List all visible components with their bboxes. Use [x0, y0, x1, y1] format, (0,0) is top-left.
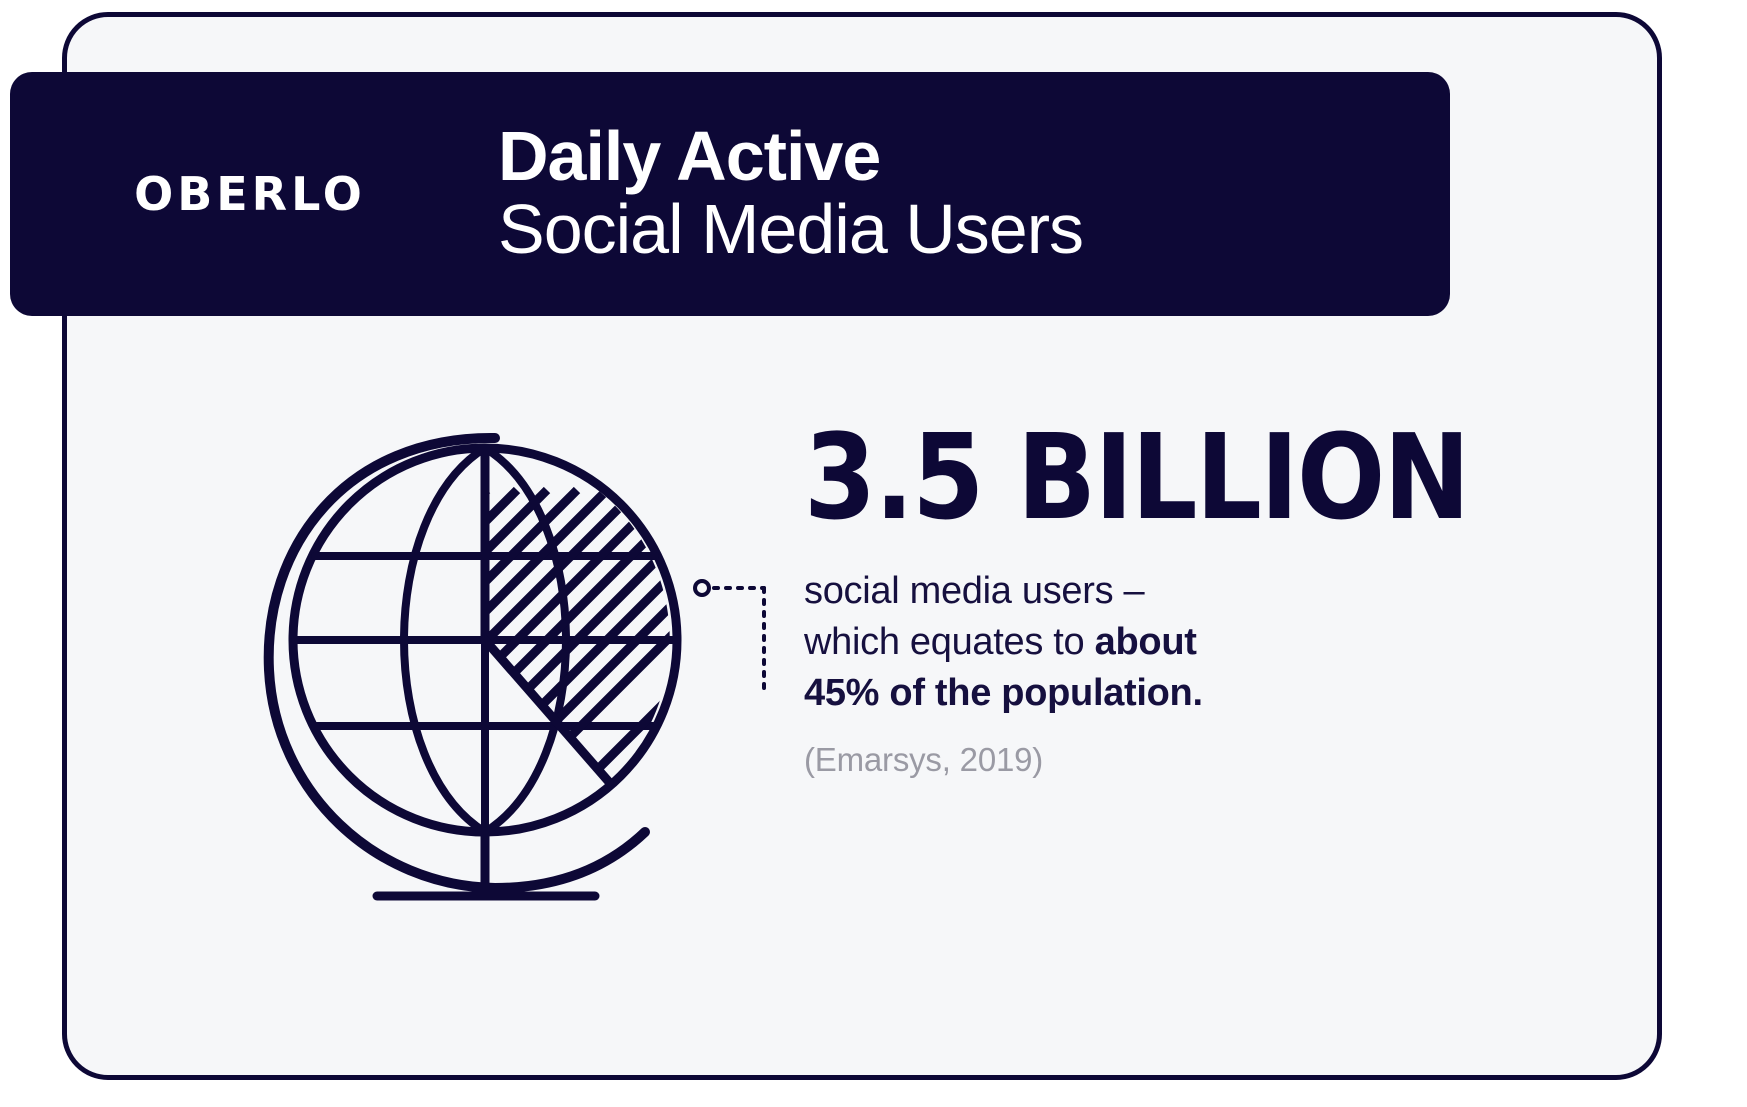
header-titles: Daily Active Social Media Users	[490, 121, 1450, 268]
stat-description-line-3: 45% of the population.	[804, 668, 1424, 719]
stat-description-line-2-bold: about	[1095, 621, 1197, 663]
connector-dot-icon	[695, 581, 709, 595]
body-area: 3.5 BILLION social media users – which e…	[62, 330, 1662, 1080]
page-title-line-1: Daily Active	[498, 121, 1450, 192]
header-banner: OBERLO Daily Active Social Media Users	[10, 72, 1450, 316]
stat-description-line-2-prefix: which equates to	[804, 621, 1095, 663]
oberlo-wordmark-icon: OBERLO	[134, 167, 366, 221]
stat-description: social media users – which equates to ab…	[804, 566, 1424, 719]
stat-description-line-1: social media users –	[804, 566, 1424, 617]
logo-wrap: OBERLO	[10, 167, 490, 221]
globe-illustration	[227, 340, 747, 940]
stat-block: 3.5 BILLION social media users – which e…	[804, 418, 1424, 779]
stat-source: (Emarsys, 2019)	[804, 741, 1424, 779]
page-title-line-2: Social Media Users	[498, 192, 1450, 268]
stat-description-line-3-bold: 45% of the population.	[804, 672, 1203, 714]
stat-number: 3.5 BILLION	[804, 418, 1350, 536]
globe-icon	[227, 340, 747, 940]
dotted-connector	[692, 560, 822, 720]
stat-description-line-2: which equates to about	[804, 617, 1424, 668]
infographic-root: OBERLO Daily Active Social Media Users	[0, 0, 1747, 1107]
